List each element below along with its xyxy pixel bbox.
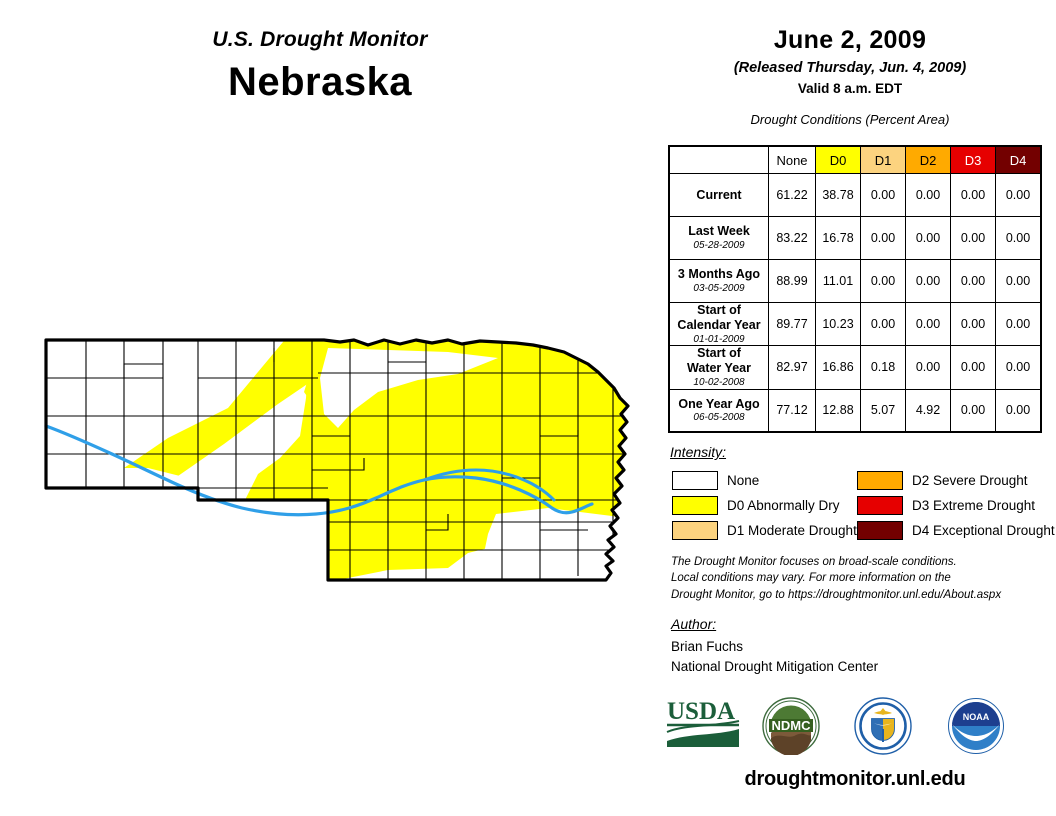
website-url: droughtmonitor.unl.edu: [660, 768, 1050, 791]
row-label-date: 10-02-2008: [670, 377, 768, 389]
ndmc-logo-icon: NDMC: [760, 697, 822, 755]
column-header-d2: D2: [906, 146, 951, 174]
noaa-logo-icon: NOAA: [945, 697, 1007, 755]
row-label: 3 Months Ago03-05-2009: [669, 260, 769, 303]
legend-item-none: None: [672, 468, 852, 493]
legend-title: Intensity:: [670, 444, 726, 460]
author-name: Brian Fuchs: [671, 637, 878, 657]
cell-none: 89.77: [769, 303, 816, 346]
map-base-none: [28, 318, 638, 608]
cell-d3: 0.00: [951, 217, 996, 260]
table-corner-cell: [669, 146, 769, 174]
cell-d0: 11.01: [816, 260, 861, 303]
release-date: (Released Thursday, Jun. 4, 2009): [660, 60, 1040, 76]
legend-item-d4: D4 Exceptional Drought: [857, 518, 1056, 543]
column-header-d4: D4: [996, 146, 1042, 174]
title-block: U.S. Drought Monitor Nebraska: [0, 28, 640, 105]
cell-d4: 0.00: [996, 217, 1042, 260]
row-label-name: 3 Months Ago: [670, 267, 768, 282]
cell-d1: 0.00: [861, 260, 906, 303]
legend-column-left: None D0 Abnormally Dry D1 Moderate Droug…: [672, 468, 852, 543]
table-body: Current61.2238.780.000.000.000.00Last We…: [669, 174, 1041, 433]
row-label: Start ofCalendar Year01-01-2009: [669, 303, 769, 346]
cell-d2: 4.92: [906, 389, 951, 432]
swatch-d3-icon: [857, 496, 903, 515]
cell-d4: 0.00: [996, 303, 1042, 346]
program-title: U.S. Drought Monitor: [0, 28, 640, 52]
legend-label-none: None: [727, 473, 759, 488]
row-label-date: 05-28-2009: [670, 240, 768, 252]
cell-none: 88.99: [769, 260, 816, 303]
legend-item-d1: D1 Moderate Drought: [672, 518, 852, 543]
row-label: Start ofWater Year10-02-2008: [669, 346, 769, 389]
usda-logo-icon: USDA: [665, 697, 745, 753]
author-heading: Author:: [671, 616, 716, 632]
disclaimer-line-1: The Drought Monitor focuses on broad-sca…: [671, 554, 1041, 570]
row-label-name: Last Week: [670, 224, 768, 239]
table-row: Start ofWater Year10-02-200882.9716.860.…: [669, 346, 1041, 389]
table-row: 3 Months Ago03-05-200988.9911.010.000.00…: [669, 260, 1041, 303]
cell-d1: 0.18: [861, 346, 906, 389]
row-label: One Year Ago06-05-2008: [669, 389, 769, 432]
legend-label-d1: D1 Moderate Drought: [727, 523, 857, 538]
row-label-name: One Year Ago: [670, 397, 768, 412]
drought-monitor-page: U.S. Drought Monitor Nebraska June 2, 20…: [0, 0, 1056, 816]
svg-text:NOAA: NOAA: [963, 712, 990, 722]
cell-none: 77.12: [769, 389, 816, 432]
table-row: Last Week05-28-200983.2216.780.000.000.0…: [669, 217, 1041, 260]
nebraska-drought-map: [28, 318, 638, 608]
swatch-d2-icon: [857, 471, 903, 490]
cell-none: 82.97: [769, 346, 816, 389]
cell-d2: 0.00: [906, 217, 951, 260]
row-label: Last Week05-28-2009: [669, 217, 769, 260]
cell-d0: 38.78: [816, 174, 861, 217]
table-row: Current61.2238.780.000.000.000.00: [669, 174, 1041, 217]
cell-d3: 0.00: [951, 346, 996, 389]
row-label-date: 01-01-2009: [670, 334, 768, 346]
cell-none: 83.22: [769, 217, 816, 260]
cell-d0: 16.86: [816, 346, 861, 389]
date-block: June 2, 2009 (Released Thursday, Jun. 4,…: [660, 26, 1040, 127]
cell-d1: 5.07: [861, 389, 906, 432]
legend-column-right: D2 Severe Drought D3 Extreme Drought D4 …: [857, 468, 1056, 543]
row-label-date: 03-05-2009: [670, 283, 768, 295]
cell-d4: 0.00: [996, 346, 1042, 389]
row-label-name: Start ofCalendar Year: [670, 303, 768, 333]
cell-none: 61.22: [769, 174, 816, 217]
swatch-d4-icon: [857, 521, 903, 540]
author-affiliation: National Drought Mitigation Center: [671, 657, 878, 677]
valid-time: Valid 8 a.m. EDT: [660, 81, 1040, 96]
svg-text:NDMC: NDMC: [772, 718, 812, 733]
disclaimer-text: The Drought Monitor focuses on broad-sca…: [671, 554, 1041, 603]
legend-label-d2: D2 Severe Drought: [912, 473, 1028, 488]
department-of-commerce-logo-icon: [852, 697, 914, 755]
disclaimer-line-2: Local conditions may vary. For more info…: [671, 570, 1041, 586]
column-header-d3: D3: [951, 146, 996, 174]
legend-item-d3: D3 Extreme Drought: [857, 493, 1056, 518]
row-label-name: Start ofWater Year: [670, 346, 768, 376]
legend-item-d2: D2 Severe Drought: [857, 468, 1056, 493]
swatch-d0-icon: [672, 496, 718, 515]
cell-d3: 0.00: [951, 174, 996, 217]
column-header-d1: D1: [861, 146, 906, 174]
row-label-name: Current: [670, 188, 768, 203]
legend-item-d0: D0 Abnormally Dry: [672, 493, 852, 518]
legend-label-d3: D3 Extreme Drought: [912, 498, 1035, 513]
cell-d0: 12.88: [816, 389, 861, 432]
swatch-none-icon: [672, 471, 718, 490]
svg-text:USDA: USDA: [667, 698, 735, 725]
cell-d1: 0.00: [861, 174, 906, 217]
cell-d1: 0.00: [861, 303, 906, 346]
swatch-d1-icon: [672, 521, 718, 540]
state-title: Nebraska: [0, 60, 640, 105]
table-row: Start ofCalendar Year01-01-200989.7710.2…: [669, 303, 1041, 346]
legend-label-d4: D4 Exceptional Drought: [912, 523, 1055, 538]
row-label-date: 06-05-2008: [670, 412, 768, 424]
row-label: Current: [669, 174, 769, 217]
table-row: One Year Ago06-05-200877.1212.885.074.92…: [669, 389, 1041, 432]
cell-d3: 0.00: [951, 303, 996, 346]
cell-d0: 10.23: [816, 303, 861, 346]
column-header-d0: D0: [816, 146, 861, 174]
logo-strip: USDA NDMC: [660, 697, 1040, 759]
cell-d4: 0.00: [996, 389, 1042, 432]
drought-conditions-table: None D0 D1 D2 D3 D4 Current61.2238.780.0…: [668, 145, 1042, 433]
table-header-row: None D0 D1 D2 D3 D4: [669, 146, 1041, 174]
cell-d4: 0.00: [996, 260, 1042, 303]
column-header-none: None: [769, 146, 816, 174]
none-region-southeast: [483, 508, 628, 580]
table-caption: Drought Conditions (Percent Area): [660, 112, 1040, 127]
cell-d2: 0.00: [906, 260, 951, 303]
cell-d1: 0.00: [861, 217, 906, 260]
legend-label-d0: D0 Abnormally Dry: [727, 498, 840, 513]
author-block: Brian Fuchs National Drought Mitigation …: [671, 637, 878, 678]
map-svg: [28, 318, 638, 608]
cell-d2: 0.00: [906, 303, 951, 346]
valid-date: June 2, 2009: [660, 26, 1040, 55]
cell-d2: 0.00: [906, 346, 951, 389]
cell-d3: 0.00: [951, 389, 996, 432]
cell-d3: 0.00: [951, 260, 996, 303]
disclaimer-line-3: Drought Monitor, go to https://droughtmo…: [671, 587, 1041, 603]
cell-d2: 0.00: [906, 174, 951, 217]
cell-d4: 0.00: [996, 174, 1042, 217]
cell-d0: 16.78: [816, 217, 861, 260]
